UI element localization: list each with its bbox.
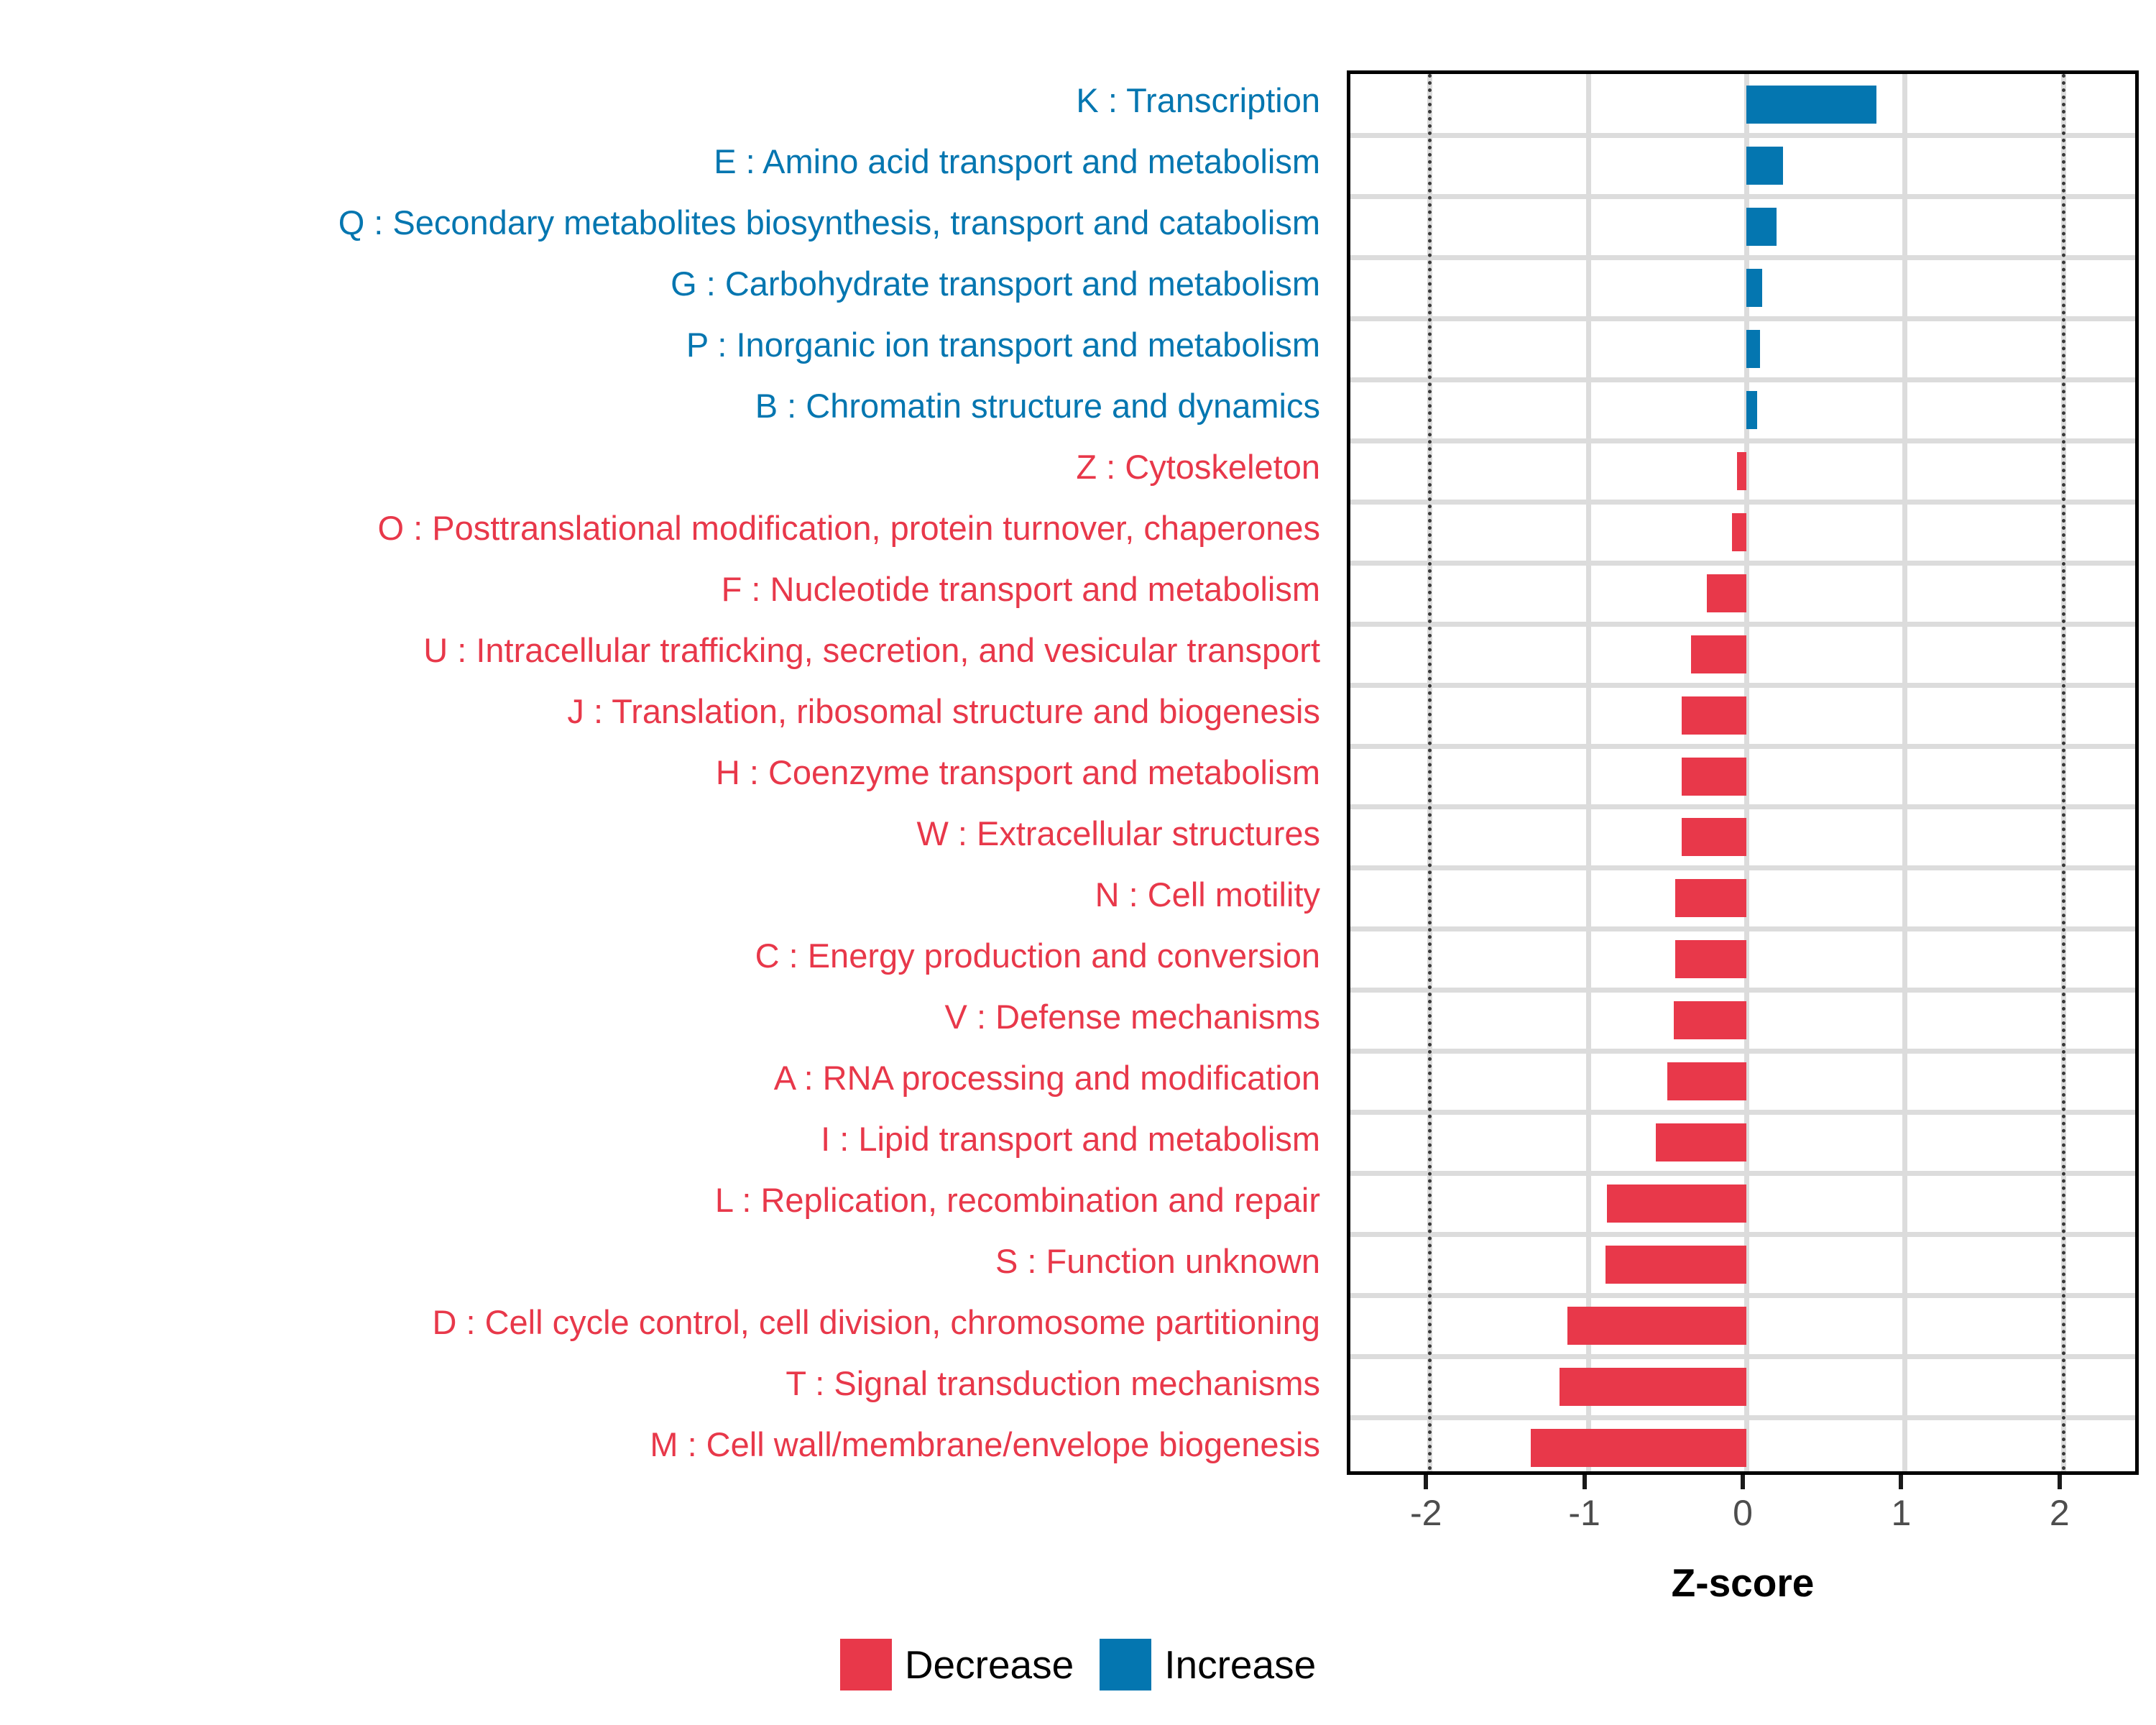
gridline-horizontal [1350, 1110, 2135, 1115]
category-label: K : Transcription [0, 83, 1333, 117]
category-label: B : Chromatin structure and dynamics [0, 389, 1333, 423]
category-label: Q : Secondary metabolites biosynthesis, … [0, 206, 1333, 239]
x-tick-mark [1583, 1475, 1587, 1489]
bar [1732, 513, 1746, 551]
category-label: S : Function unknown [0, 1244, 1333, 1278]
category-label: C : Energy production and conversion [0, 939, 1333, 972]
gridline-horizontal [1350, 1415, 2135, 1420]
category-label: A : RNA processing and modification [0, 1061, 1333, 1095]
bar [1691, 635, 1746, 673]
plot-panel [1347, 70, 2139, 1475]
category-label: J : Translation, ribosomal structure and… [0, 694, 1333, 728]
bar [1746, 147, 1783, 185]
legend-swatch [840, 1639, 892, 1690]
gridline-vertical [1586, 74, 1591, 1471]
bar [1675, 940, 1746, 978]
category-label: D : Cell cycle control, cell division, c… [0, 1305, 1333, 1339]
gridline-horizontal [1350, 622, 2135, 627]
category-axis-labels: K : TranscriptionE : Amino acid transpor… [0, 70, 1333, 1475]
bar [1560, 1368, 1746, 1406]
bar [1746, 269, 1762, 307]
bar [1746, 86, 1876, 124]
gridline-horizontal [1350, 744, 2135, 749]
x-axis: -2-1012 [1347, 1475, 2139, 1561]
category-label: O : Posttranslational modification, prot… [0, 511, 1333, 545]
x-tick-label: -2 [1410, 1492, 1442, 1534]
x-tick-mark [2058, 1475, 2062, 1489]
reference-line [1428, 74, 1432, 1471]
gridline-vertical [1902, 74, 1907, 1471]
category-label: N : Cell motility [0, 878, 1333, 911]
gridline-horizontal [1350, 194, 2135, 199]
bar [1682, 758, 1746, 796]
x-tick-mark [1424, 1475, 1428, 1489]
x-tick-label: 0 [1733, 1492, 1753, 1534]
bar [1675, 879, 1746, 917]
bar [1607, 1184, 1746, 1223]
x-tick-label: 2 [2050, 1492, 2070, 1534]
gridline-horizontal [1350, 1171, 2135, 1176]
bar [1674, 1001, 1746, 1039]
bar [1682, 696, 1746, 735]
gridline-horizontal [1350, 1049, 2135, 1054]
category-label: U : Intracellular trafficking, secretion… [0, 633, 1333, 667]
bar [1606, 1246, 1746, 1284]
gridline-horizontal [1350, 683, 2135, 688]
gridline-horizontal [1350, 438, 2135, 443]
category-label: L : Replication, recombination and repai… [0, 1183, 1333, 1217]
bar [1746, 330, 1760, 368]
bar [1746, 391, 1757, 429]
bar [1737, 452, 1746, 490]
x-axis-title: Z-score [1347, 1560, 2139, 1606]
gridline-horizontal [1350, 133, 2135, 138]
bar [1746, 208, 1777, 246]
legend-swatch [1100, 1639, 1151, 1690]
cog-zscore-bar-chart: K : TranscriptionE : Amino acid transpor… [0, 0, 2156, 1725]
bar [1682, 818, 1746, 856]
legend-item[interactable]: Decrease [840, 1639, 1074, 1690]
plot-area [1350, 74, 2135, 1471]
category-label: M : Cell wall/membrane/envelope biogenes… [0, 1427, 1333, 1461]
legend-label: Increase [1164, 1642, 1316, 1688]
category-label: I : Lipid transport and metabolism [0, 1122, 1333, 1156]
legend: DecreaseIncrease [0, 1639, 2156, 1690]
gridline-horizontal [1350, 561, 2135, 566]
gridline-horizontal [1350, 316, 2135, 321]
x-tick-label: -1 [1568, 1492, 1600, 1534]
category-label: P : Inorganic ion transport and metaboli… [0, 328, 1333, 362]
gridline-horizontal [1350, 255, 2135, 260]
bar [1656, 1123, 1746, 1161]
gridline-horizontal [1350, 1293, 2135, 1298]
x-tick-mark [1741, 1475, 1745, 1489]
bar [1667, 1062, 1746, 1100]
category-label: T : Signal transduction mechanisms [0, 1366, 1333, 1400]
gridline-horizontal [1350, 804, 2135, 809]
gridline-horizontal [1350, 1354, 2135, 1359]
category-label: F : Nucleotide transport and metabolism [0, 572, 1333, 606]
gridline-horizontal [1350, 500, 2135, 505]
gridline-horizontal [1350, 377, 2135, 382]
gridline-horizontal [1350, 1232, 2135, 1237]
gridline-horizontal [1350, 988, 2135, 993]
gridline-horizontal [1350, 926, 2135, 931]
category-label: W : Extracellular structures [0, 816, 1333, 850]
bar [1531, 1429, 1746, 1467]
legend-item[interactable]: Increase [1100, 1639, 1316, 1690]
category-label: Z : Cytoskeleton [0, 450, 1333, 484]
bar [1567, 1307, 1746, 1345]
category-label: G : Carbohydrate transport and metabolis… [0, 267, 1333, 300]
x-tick-mark [1899, 1475, 1903, 1489]
reference-line [2062, 74, 2065, 1471]
bar [1707, 574, 1746, 612]
gridline-horizontal [1350, 865, 2135, 870]
category-label: V : Defense mechanisms [0, 1000, 1333, 1034]
legend-label: Decrease [905, 1642, 1074, 1688]
category-label: H : Coenzyme transport and metabolism [0, 755, 1333, 789]
category-label: E : Amino acid transport and metabolism [0, 144, 1333, 178]
x-tick-label: 1 [1891, 1492, 1911, 1534]
